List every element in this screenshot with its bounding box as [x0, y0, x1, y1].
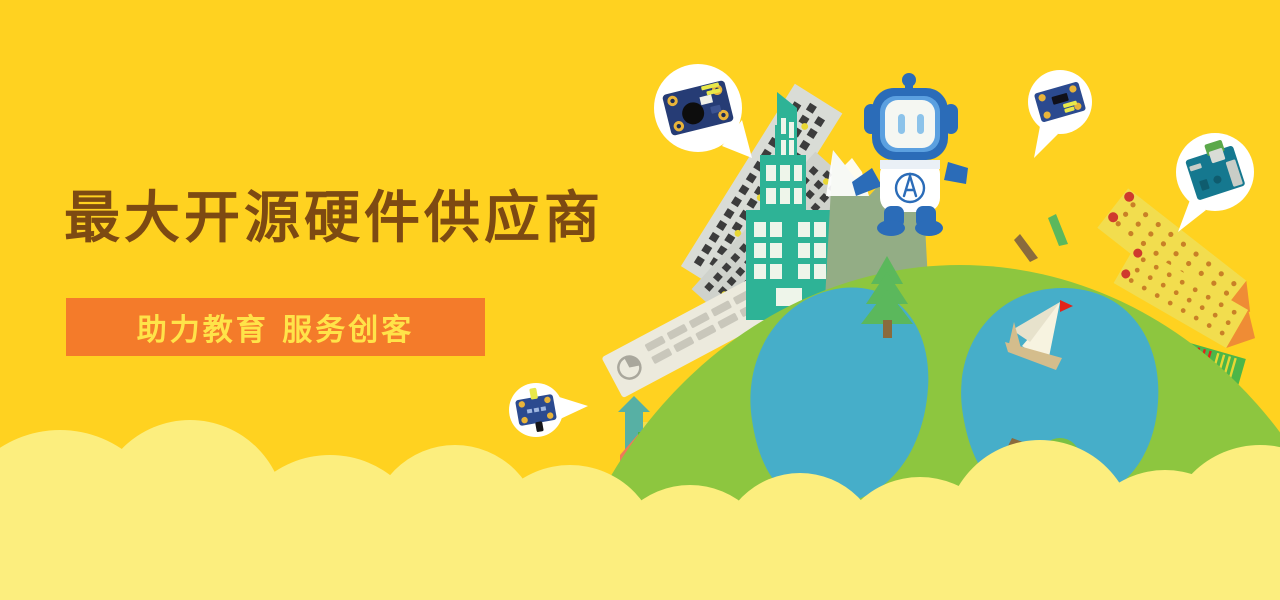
- headline-text: 最大开源硬件供应商: [64, 190, 604, 249]
- promo-banner: 最大开源硬件供应商 助力教育 服务创客: [0, 0, 1280, 600]
- subtitle-text: 助力教育 服务创客: [66, 298, 485, 356]
- subtitle-highlight-box: 助力教育 服务创客: [66, 298, 485, 356]
